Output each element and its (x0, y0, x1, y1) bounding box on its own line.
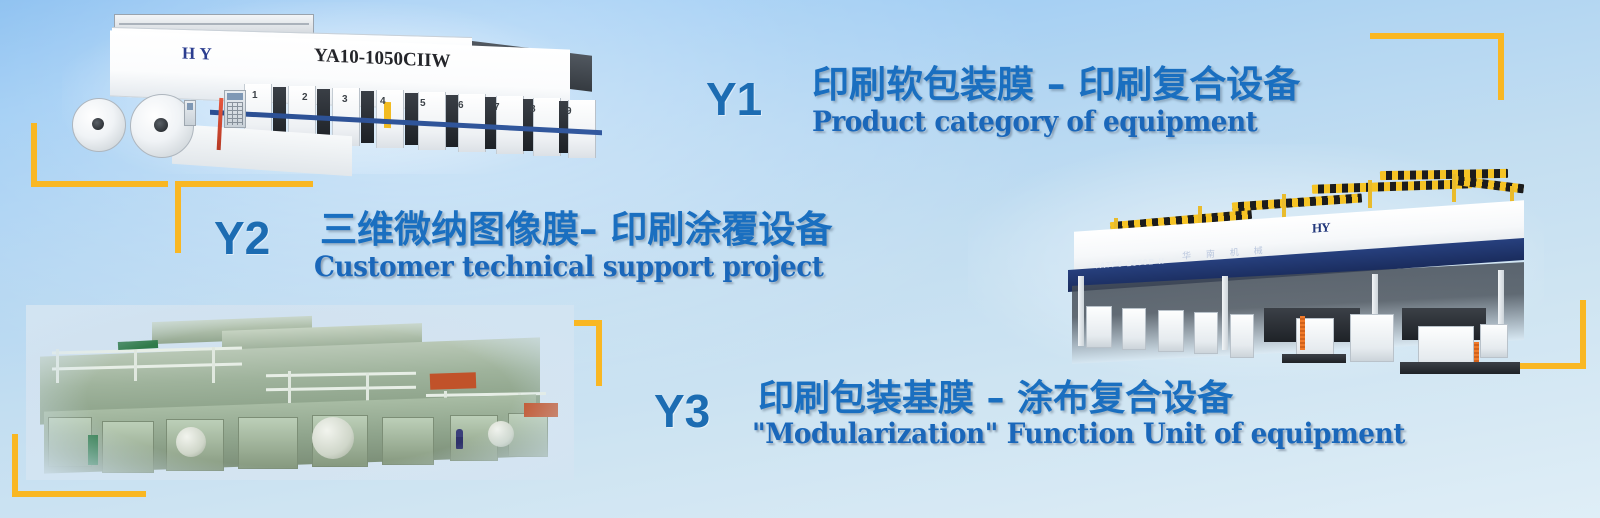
product-banner: H Y YA10-1050CIIW 1 2 3 4 5 6 7 8 9 (0, 0, 1600, 518)
entry-y3-key: Y3 (654, 388, 710, 434)
entry-y3: Y3 印刷包装基膜 – 涂布复合设备 "Modularization" Func… (0, 0, 1600, 518)
entry-y3-subtitle-en: "Modularization" Function Unit of equipm… (752, 420, 1405, 448)
entry-y3-title-cn: 印刷包装基膜 – 涂布复合设备 (758, 381, 1233, 417)
